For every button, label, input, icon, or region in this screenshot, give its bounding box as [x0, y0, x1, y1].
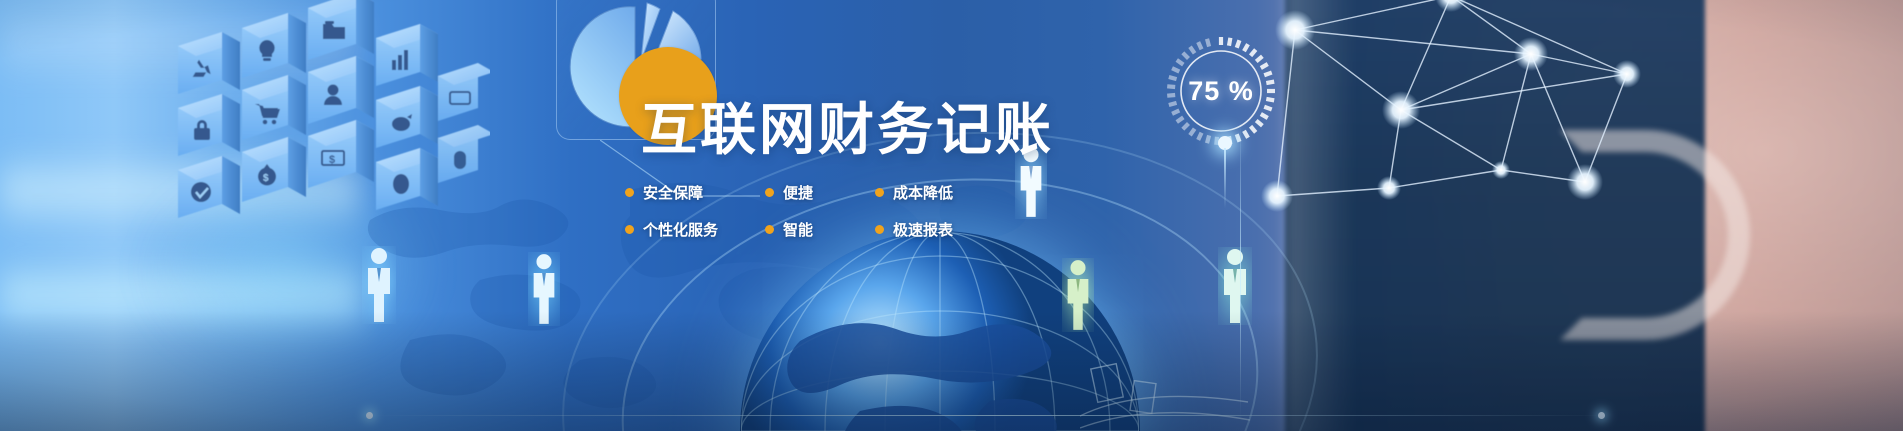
feature-list: 安全保障 便捷 成本降低 个性化服务 智能 极速报表 [625, 182, 1005, 256]
feature-item-security: 安全保障 [625, 182, 765, 203]
feature-row: 安全保障 便捷 成本降低 [625, 182, 1005, 203]
bullet-dot-icon [875, 225, 884, 234]
bullet-dot-icon [625, 225, 634, 234]
feature-label: 极速报表 [893, 219, 953, 240]
feature-label: 便捷 [783, 182, 813, 203]
bullet-dot-icon [875, 188, 884, 197]
gauge-stem-line [1224, 148, 1226, 208]
bullet-dot-icon [765, 225, 774, 234]
promo-banner: $ [0, 0, 1903, 431]
feature-label: 安全保障 [643, 182, 703, 203]
feature-row: 个性化服务 智能 极速报表 [625, 219, 1005, 240]
svg-text:$: $ [263, 173, 269, 184]
svg-text:$: $ [329, 154, 335, 166]
feature-label: 智能 [783, 219, 813, 240]
feature-item-intelligent: 智能 [765, 219, 875, 240]
feature-label: 成本降低 [893, 182, 953, 203]
feature-item-convenient: 便捷 [765, 182, 875, 203]
network-graph [1255, 0, 1675, 212]
feature-item-fast-reports: 极速报表 [875, 219, 1005, 240]
feature-item-personalized-service: 个性化服务 [625, 219, 765, 240]
feature-label: 个性化服务 [643, 219, 718, 240]
bullet-dot-icon [765, 188, 774, 197]
bullet-dot-icon [625, 188, 634, 197]
page-title: 互联网财务记账 [641, 102, 1054, 158]
icon-cube-cluster: $ [150, 0, 490, 270]
bottom-shade [0, 311, 1903, 431]
feature-item-cost-reduction: 成本降低 [875, 182, 1005, 203]
